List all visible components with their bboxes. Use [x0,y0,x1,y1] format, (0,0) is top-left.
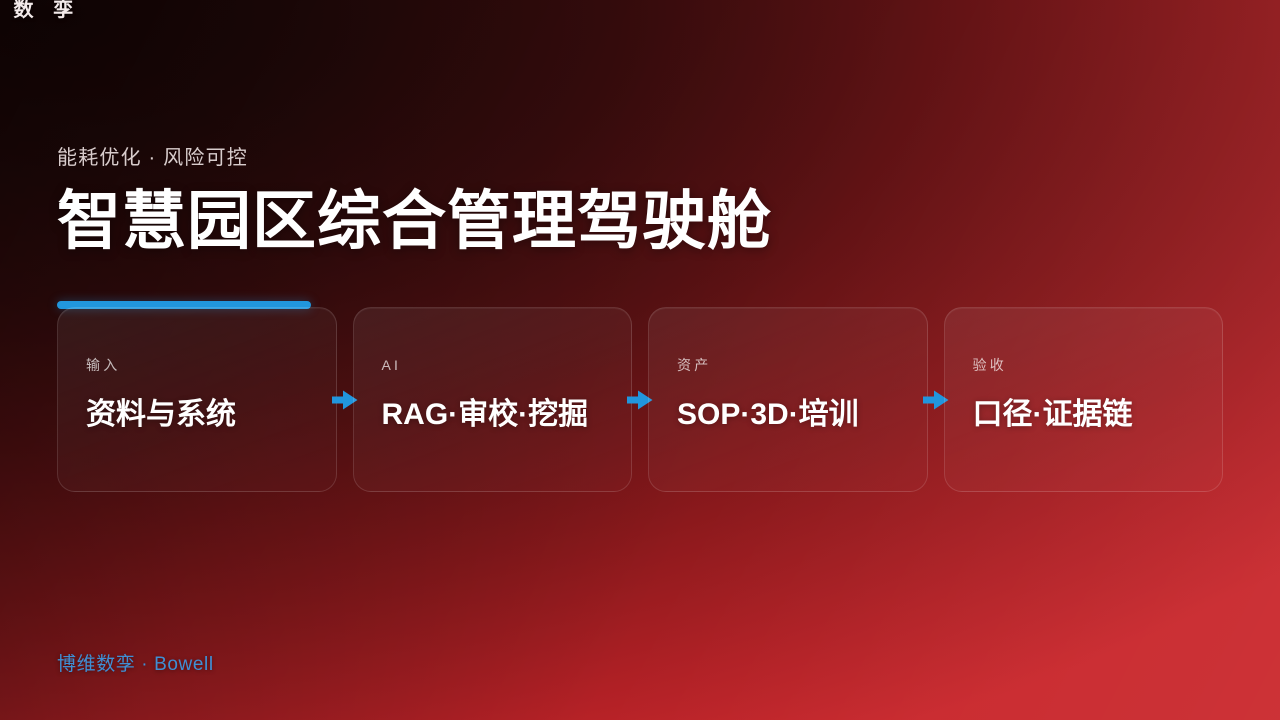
card-label: 验收 [973,356,1195,374]
footer-brand: 博维数孪 · Bowell [57,652,214,678]
pipeline-card-asset[interactable]: 资产 SOP·3D·培训 [648,307,928,492]
brand-watermark: 维 数 孪 [0,0,80,24]
card-title: RAG·审校·挖掘 [382,394,604,436]
pipeline-card-ai[interactable]: AI RAG·审校·挖掘 [353,307,633,492]
pipeline-card-acceptance[interactable]: 验收 口径·证据链 [944,307,1224,492]
eyebrow-text: 能耗优化 · 风险可控 [57,144,772,172]
pipeline-connector-3 [928,307,944,492]
card-title: 资料与系统 [86,394,308,436]
pipeline-card-input[interactable]: 输入 资料与系统 [57,307,337,492]
card-label: 输入 [86,356,308,374]
card-title: 口径·证据链 [973,394,1195,436]
pipeline-cards: 输入 资料与系统 AI RAG·审校·挖掘 资产 SOP·3D·培训 [57,307,1223,492]
pipeline-connector-1 [337,307,353,492]
card-label: AI [382,356,604,374]
heading-block: 能耗优化 · 风险可控 智慧园区综合管理驾驶舱 [57,144,772,309]
card-label: 资产 [677,356,899,374]
pipeline-connector-2 [632,307,648,492]
card-title: SOP·3D·培训 [677,394,899,436]
slide-root: 维 数 孪 能耗优化 · 风险可控 智慧园区综合管理驾驶舱 输入 资料与系统 A… [0,0,1280,720]
page-title: 智慧园区综合管理驾驶舱 [57,184,772,258]
